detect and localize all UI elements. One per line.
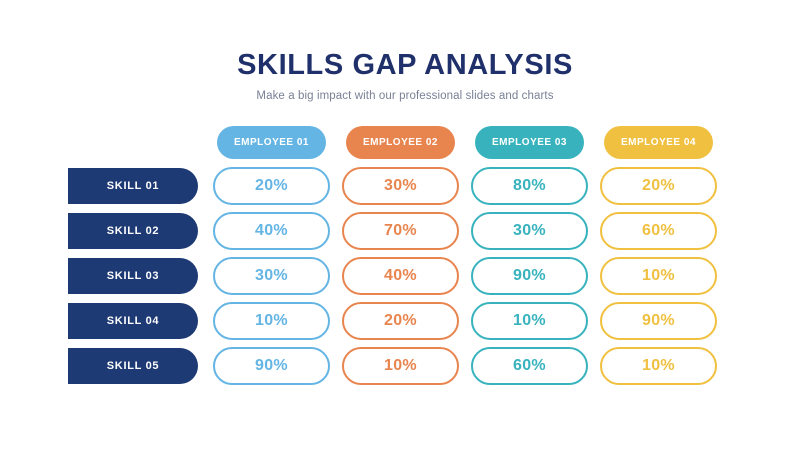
row-label-skill-02[interactable]: SKILL 02 — [68, 213, 198, 249]
value-skill-02-employee-04[interactable]: 60% — [600, 212, 717, 250]
value-skill-03-employee-02[interactable]: 40% — [342, 257, 459, 295]
value-skill-03-employee-03[interactable]: 90% — [471, 257, 588, 295]
row-label-skill-01[interactable]: SKILL 01 — [68, 168, 198, 204]
corner-spacer-box — [68, 124, 198, 160]
table-row: SKILL 03 30% 40% 90% 10% — [68, 257, 744, 295]
column-header-cell-4: EMPLOYEE 04 — [600, 126, 717, 159]
value-skill-01-employee-04[interactable]: 20% — [600, 167, 717, 205]
table-row: SKILL 01 20% 30% 80% 20% — [68, 167, 744, 205]
value-skill-04-employee-03[interactable]: 10% — [471, 302, 588, 340]
value-cell-3-1: 30% — [213, 257, 330, 295]
column-header-cell-2: EMPLOYEE 02 — [342, 126, 459, 159]
value-skill-02-employee-03[interactable]: 30% — [471, 212, 588, 250]
column-header-cell-1: EMPLOYEE 01 — [213, 126, 330, 159]
row-label-cell-2: SKILL 02 — [68, 213, 213, 249]
value-skill-01-employee-03[interactable]: 80% — [471, 167, 588, 205]
slide-root: SKILLS GAP ANALYSIS Make a big impact wi… — [0, 0, 810, 450]
value-cell-2-1: 40% — [213, 212, 330, 250]
value-cell-4-2: 20% — [342, 302, 459, 340]
skills-matrix: EMPLOYEE 01 EMPLOYEE 02 EMPLOYEE 03 EMPL… — [68, 124, 744, 392]
column-header-employee-02[interactable]: EMPLOYEE 02 — [346, 126, 455, 159]
page-subtitle: Make a big impact with our professional … — [0, 90, 810, 102]
value-cell-3-4: 10% — [600, 257, 717, 295]
value-skill-04-employee-02[interactable]: 20% — [342, 302, 459, 340]
row-label-skill-03[interactable]: SKILL 03 — [68, 258, 198, 294]
value-cell-5-4: 10% — [600, 347, 717, 385]
row-label-cell-4: SKILL 04 — [68, 303, 213, 339]
value-skill-01-employee-01[interactable]: 20% — [213, 167, 330, 205]
value-cell-1-4: 20% — [600, 167, 717, 205]
value-cell-4-4: 90% — [600, 302, 717, 340]
value-skill-05-employee-03[interactable]: 60% — [471, 347, 588, 385]
row-label-cell-3: SKILL 03 — [68, 258, 213, 294]
value-skill-03-employee-01[interactable]: 30% — [213, 257, 330, 295]
value-skill-01-employee-02[interactable]: 30% — [342, 167, 459, 205]
value-cell-1-1: 20% — [213, 167, 330, 205]
row-label-skill-04[interactable]: SKILL 04 — [68, 303, 198, 339]
value-cell-1-2: 30% — [342, 167, 459, 205]
value-cell-3-3: 90% — [471, 257, 588, 295]
value-skill-05-employee-02[interactable]: 10% — [342, 347, 459, 385]
value-cell-5-3: 60% — [471, 347, 588, 385]
column-header-employee-04[interactable]: EMPLOYEE 04 — [604, 126, 713, 159]
table-row: SKILL 05 90% 10% 60% 10% — [68, 347, 744, 385]
value-skill-03-employee-04[interactable]: 10% — [600, 257, 717, 295]
value-skill-05-employee-01[interactable]: 90% — [213, 347, 330, 385]
table-row: SKILL 04 10% 20% 10% 90% — [68, 302, 744, 340]
row-label-cell-5: SKILL 05 — [68, 348, 213, 384]
value-cell-3-2: 40% — [342, 257, 459, 295]
value-cell-4-3: 10% — [471, 302, 588, 340]
value-skill-05-employee-04[interactable]: 10% — [600, 347, 717, 385]
row-label-cell-1: SKILL 01 — [68, 168, 213, 204]
column-header-employee-01[interactable]: EMPLOYEE 01 — [217, 126, 326, 159]
column-header-cell-3: EMPLOYEE 03 — [471, 126, 588, 159]
value-skill-02-employee-02[interactable]: 70% — [342, 212, 459, 250]
value-skill-04-employee-01[interactable]: 10% — [213, 302, 330, 340]
title-block: SKILLS GAP ANALYSIS Make a big impact wi… — [0, 50, 810, 102]
corner-spacer — [68, 124, 213, 160]
value-cell-5-1: 90% — [213, 347, 330, 385]
matrix-header-row: EMPLOYEE 01 EMPLOYEE 02 EMPLOYEE 03 EMPL… — [68, 124, 744, 160]
value-cell-4-1: 10% — [213, 302, 330, 340]
value-cell-2-3: 30% — [471, 212, 588, 250]
value-skill-04-employee-04[interactable]: 90% — [600, 302, 717, 340]
value-cell-5-2: 10% — [342, 347, 459, 385]
value-cell-2-4: 60% — [600, 212, 717, 250]
page-title: SKILLS GAP ANALYSIS — [0, 50, 810, 82]
table-row: SKILL 02 40% 70% 30% 60% — [68, 212, 744, 250]
row-label-skill-05[interactable]: SKILL 05 — [68, 348, 198, 384]
value-cell-1-3: 80% — [471, 167, 588, 205]
column-header-employee-03[interactable]: EMPLOYEE 03 — [475, 126, 584, 159]
value-cell-2-2: 70% — [342, 212, 459, 250]
value-skill-02-employee-01[interactable]: 40% — [213, 212, 330, 250]
